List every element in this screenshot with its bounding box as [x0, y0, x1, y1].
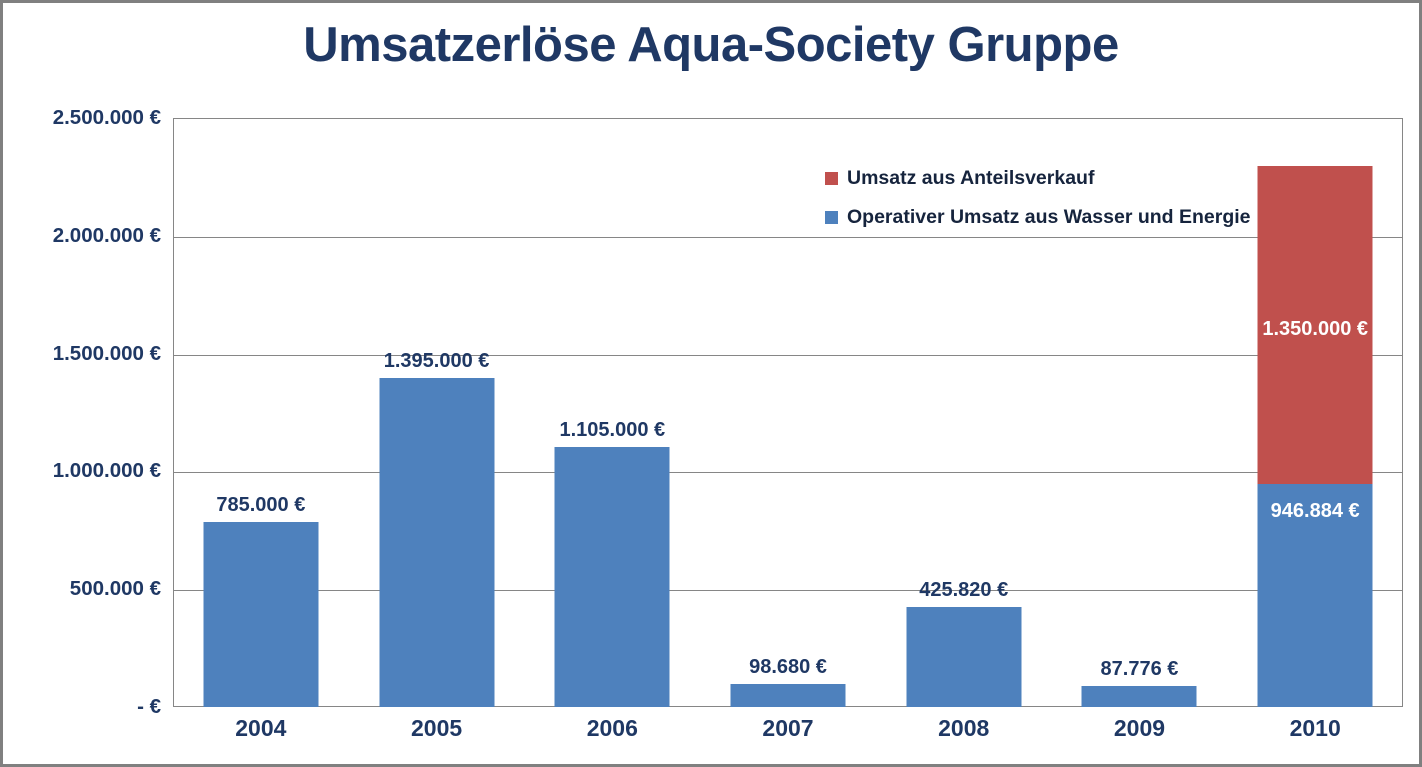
bar-segment-anteilsverkauf-2010[interactable]: 1.350.000 €	[1258, 166, 1373, 484]
bar-label-2009: 87.776 €	[1052, 658, 1227, 681]
bar-label-2010-operativ: 946.884 €	[1258, 500, 1373, 523]
bar-segment-operativ-2010[interactable]: 946.884 €	[1258, 484, 1373, 707]
y-tick-1000000: 1.000.000 €	[3, 459, 161, 483]
x-axis-labels: 2004 2005 2006 2007 2008 2009 2010	[173, 715, 1403, 755]
y-tick-0: - €	[3, 695, 161, 719]
y-tick-2500000: 2.500.000 €	[3, 106, 161, 130]
bar-2009[interactable]: 87.776 €	[1082, 686, 1197, 707]
bar-segment-operativ-2006[interactable]: 1.105.000 €	[555, 447, 670, 707]
y-axis-labels: 2.500.000 € 2.000.000 € 1.500.000 € 1.00…	[3, 118, 161, 707]
bar-segment-operativ-2005[interactable]: 1.395.000 €	[379, 378, 494, 707]
bar-segment-operativ-2008[interactable]: 425.820 €	[906, 607, 1021, 707]
red-square-icon	[825, 172, 838, 185]
bar-label-2010-anteilsverkauf: 1.350.000 €	[1258, 318, 1373, 341]
x-tick-2007: 2007	[700, 715, 876, 755]
legend-item-operativ[interactable]: Operativer Umsatz aus Wasser und Energie	[825, 204, 1251, 231]
chart-legend: Umsatz aus Anteilsverkauf Operativer Ums…	[825, 165, 1251, 243]
x-tick-2008: 2008	[876, 715, 1052, 755]
bar-2005[interactable]: 1.395.000 €	[379, 378, 494, 707]
legend-label-operativ: Operativer Umsatz aus Wasser und Energie	[847, 206, 1251, 229]
bar-slot-2010: 1.350.000 € 946.884 €	[1227, 118, 1403, 707]
x-tick-2010: 2010	[1227, 715, 1403, 755]
chart-title: Umsatzerlöse Aqua-Society Gruppe	[3, 17, 1419, 73]
bar-2004[interactable]: 785.000 €	[203, 522, 318, 707]
bar-2008[interactable]: 425.820 €	[906, 607, 1021, 707]
bar-label-2004: 785.000 €	[173, 494, 348, 517]
x-tick-2004: 2004	[173, 715, 349, 755]
bar-2007[interactable]: 98.680 €	[731, 684, 846, 707]
bar-2006[interactable]: 1.105.000 €	[555, 447, 670, 707]
x-tick-2009: 2009	[1052, 715, 1228, 755]
y-tick-1500000: 1.500.000 €	[3, 342, 161, 366]
bar-segment-operativ-2009[interactable]: 87.776 €	[1082, 686, 1197, 707]
bar-segment-operativ-2004[interactable]: 785.000 €	[203, 522, 318, 707]
legend-item-anteilsverkauf[interactable]: Umsatz aus Anteilsverkauf	[825, 165, 1251, 192]
bar-label-2006: 1.105.000 €	[525, 419, 700, 442]
bar-slot-2005: 1.395.000 €	[349, 118, 525, 707]
bar-slot-2006: 1.105.000 €	[524, 118, 700, 707]
legend-label-anteilsverkauf: Umsatz aus Anteilsverkauf	[847, 167, 1094, 190]
x-tick-2005: 2005	[349, 715, 525, 755]
y-tick-2000000: 2.000.000 €	[3, 224, 161, 248]
bar-label-2007: 98.680 €	[701, 656, 876, 679]
blue-square-icon	[825, 211, 838, 224]
chart-screenshot: Umsatzerlöse Aqua-Society Gruppe 2.500.0…	[0, 0, 1422, 767]
x-tick-2006: 2006	[524, 715, 700, 755]
bar-label-2008: 425.820 €	[876, 579, 1051, 602]
bar-segment-operativ-2007[interactable]: 98.680 €	[731, 684, 846, 707]
y-tick-500000: 500.000 €	[3, 577, 161, 601]
bar-label-2005: 1.395.000 €	[349, 350, 524, 373]
bar-slot-2004: 785.000 €	[173, 118, 349, 707]
bar-2010[interactable]: 1.350.000 € 946.884 €	[1258, 166, 1373, 707]
